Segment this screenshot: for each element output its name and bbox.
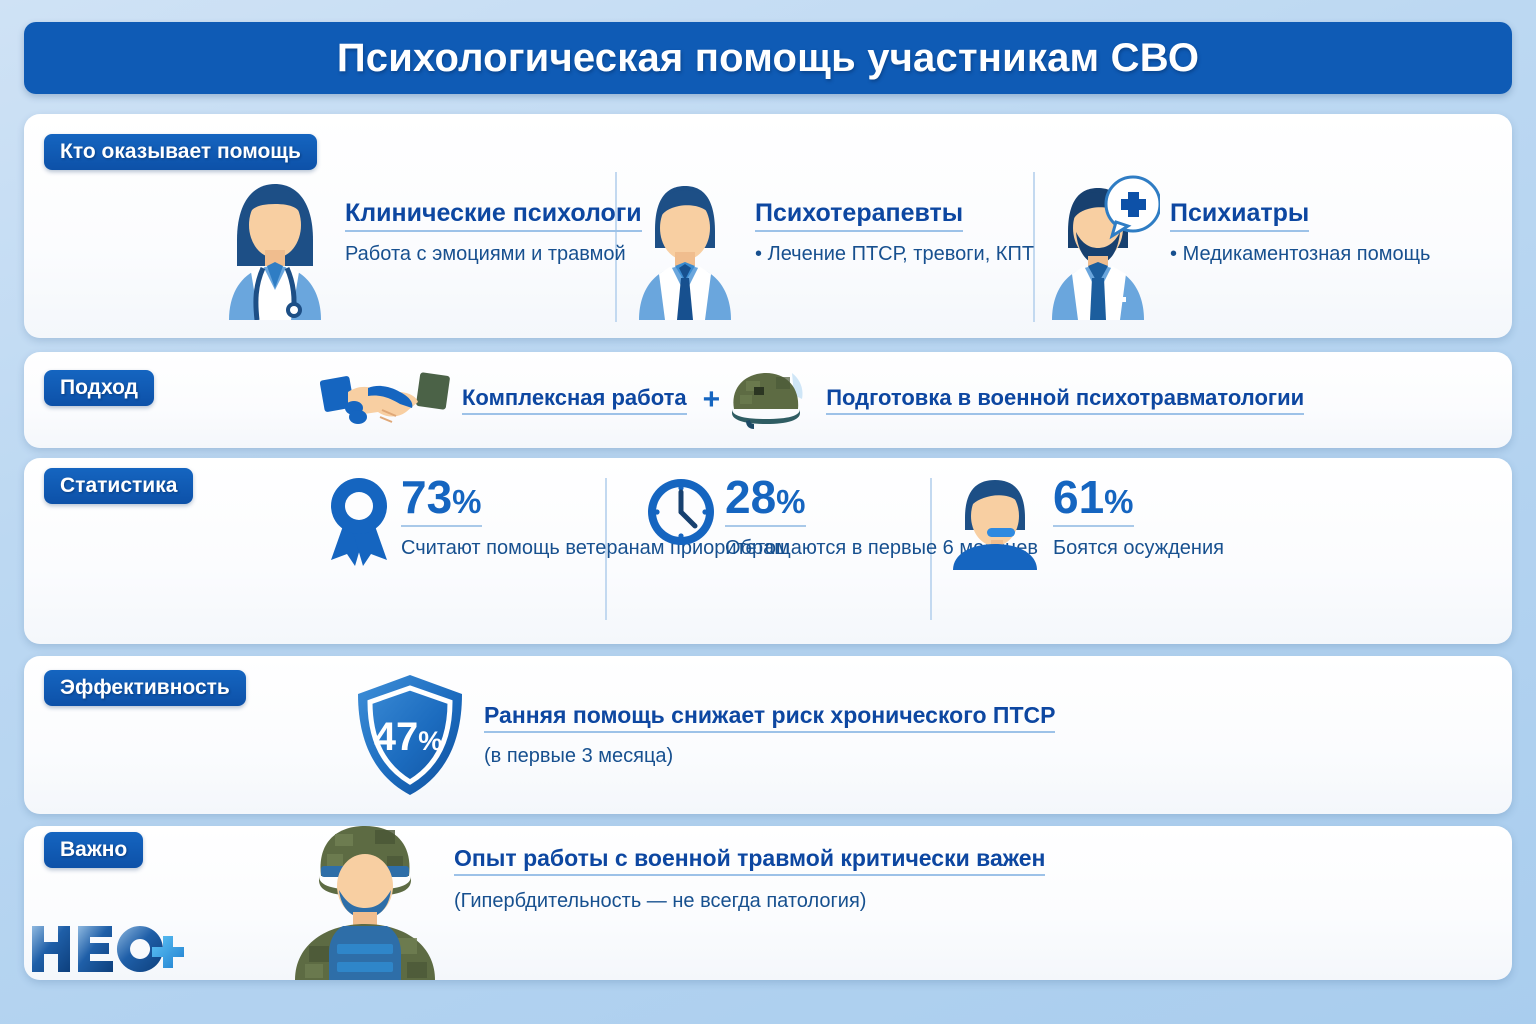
specialist-card-clinical-psychologist: Клинические психологи Работа с эмоциями … bbox=[215, 170, 642, 320]
bullet-icon: • bbox=[1170, 243, 1183, 265]
specialist-name: Клинические психологи bbox=[345, 200, 642, 232]
specialist-desc: • Лечение ПТСР, тревоги, КПТ bbox=[755, 241, 1034, 267]
important-headline: Опыт работы с военной травмой критически… bbox=[454, 845, 1045, 876]
stat-caption: Боятся осуждения bbox=[1053, 535, 1224, 562]
important-row: Опыт работы с военной травмой критически… bbox=[283, 820, 1045, 980]
bullet-icon: • bbox=[755, 243, 768, 265]
effectiveness-row: 47% Ранняя помощь снижает риск хроническ… bbox=[350, 672, 1055, 798]
section-label-effectiveness: Эффективность bbox=[44, 670, 246, 706]
bearded-psychiatrist-avatar bbox=[1040, 170, 1160, 320]
effectiveness-headline: Ранняя помощь снижает риск хронического … bbox=[484, 702, 1055, 733]
approach-right-text: Подготовка в военной психотравматологии bbox=[826, 385, 1304, 415]
section-label-important: Важно bbox=[44, 832, 143, 868]
soldier-avatar bbox=[283, 820, 448, 980]
specialist-card-psychiatrist: Психиатры • Медикаментозная помощь bbox=[1040, 170, 1430, 320]
specialist-name: Психиатры bbox=[1170, 200, 1309, 232]
specialist-card-psychotherapist: Психотерапевты • Лечение ПТСР, тревоги, … bbox=[625, 170, 1034, 320]
stat-card-fear-of-judgment: 61% Боятся осуждения bbox=[945, 474, 1224, 570]
stat-value: 61% bbox=[1053, 474, 1134, 527]
effectiveness-subline: (в первые 3 месяца) bbox=[484, 745, 1055, 768]
specialist-desc: • Медикаментозная помощь bbox=[1170, 241, 1430, 267]
specialist-desc: Работа с эмоциями и травмой bbox=[345, 241, 642, 267]
important-subline: (Гипербдительность — не всегда патология… bbox=[454, 890, 1045, 913]
shield-icon: 47% bbox=[350, 672, 470, 798]
approach-left-text: Комплексная работа bbox=[462, 385, 687, 415]
award-ribbon-icon bbox=[325, 474, 393, 570]
female-psychologist-avatar bbox=[215, 170, 335, 320]
stat-value: 73% bbox=[401, 474, 482, 527]
approach-row: Комплексная работа + Подготовка в военно… bbox=[320, 362, 1316, 438]
approach-plus-connector: + bbox=[703, 383, 721, 417]
page-title-bar: Психологическая помощь участникам СВО bbox=[24, 22, 1512, 94]
section-label-who: Кто оказывает помощь bbox=[44, 134, 317, 170]
section-label-statistics: Статистика bbox=[44, 468, 193, 504]
neo-plus-logo bbox=[28, 918, 188, 980]
military-helmet-icon bbox=[724, 369, 814, 431]
section-label-approach: Подход bbox=[44, 370, 154, 406]
male-therapist-avatar bbox=[625, 170, 745, 320]
specialist-name: Психотерапевты bbox=[755, 200, 963, 232]
silenced-person-icon bbox=[945, 474, 1045, 570]
page-title: Психологическая помощь участникам СВО bbox=[337, 36, 1199, 81]
clock-icon bbox=[645, 474, 717, 550]
stat-value: 28% bbox=[725, 474, 806, 527]
handshake-icon bbox=[320, 370, 450, 430]
